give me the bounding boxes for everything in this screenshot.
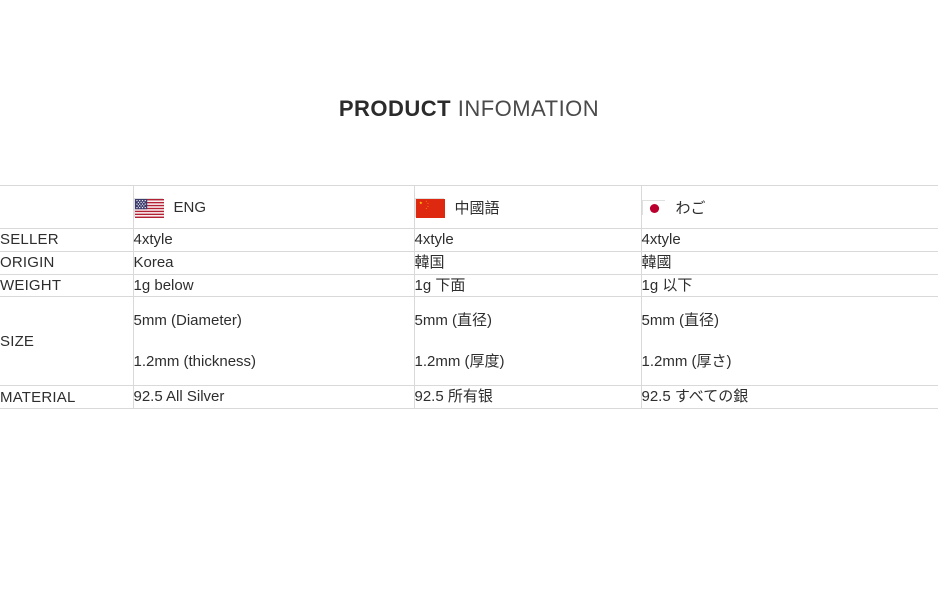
cell-text: 1g 下面 — [415, 275, 641, 297]
cell-text: 1g below — [134, 275, 414, 297]
table-row: MATERIAL 92.5 All Silver 92.5 所有银 92.5 す… — [0, 386, 938, 409]
cell-text: 92.5 All Silver — [134, 386, 414, 408]
header-cell-blank — [0, 186, 133, 229]
page-title: PRODUCT INFOMATION — [0, 96, 938, 122]
product-information-page: PRODUCT INFOMATION — [0, 0, 938, 610]
cn-flag-icon — [415, 198, 444, 217]
cell-weight-eng: 1g below — [133, 274, 414, 297]
language-label-eng: ENG — [174, 199, 207, 216]
row-label-seller: SELLER — [0, 229, 133, 252]
cell-text: 5mm (Diameter) — [134, 310, 414, 332]
row-label-origin: ORIGIN — [0, 251, 133, 274]
cell-seller-jpn: 4xtyle — [641, 229, 938, 252]
cell-text: 韓國 — [642, 252, 938, 274]
cell-text: 5mm (直径) — [642, 310, 938, 332]
row-label-material: MATERIAL — [0, 386, 133, 409]
cell-text: 4xtyle — [642, 229, 938, 251]
cell-size-jpn: 5mm (直径) 1.2mm (厚さ) — [641, 297, 938, 386]
cell-weight-chn: 1g 下面 — [414, 274, 641, 297]
jp-flag-icon — [642, 200, 665, 215]
cell-text: Korea — [134, 252, 414, 274]
table-row: SELLER 4xtyle 4xtyle 4xtyle — [0, 229, 938, 252]
cell-text: 韓国 — [415, 252, 641, 274]
table-header-row: ENG — [0, 186, 938, 229]
header-cell-eng: ENG — [133, 186, 414, 229]
cell-material-jpn: 92.5 すべての銀 — [641, 386, 938, 409]
page-title-secondary: INFOMATION — [451, 96, 599, 121]
cell-weight-jpn: 1g 以下 — [641, 274, 938, 297]
page-title-primary: PRODUCT — [339, 96, 451, 121]
language-label-chn: 中國語 — [455, 197, 500, 218]
language-label-jpn: わご — [676, 197, 706, 218]
header-cell-jpn: わご — [641, 186, 938, 229]
cell-origin-chn: 韓国 — [414, 251, 641, 274]
table-row: SIZE 5mm (Diameter) 1.2mm (thickness) 5m… — [0, 297, 938, 386]
cell-text: 5mm (直径) — [415, 310, 641, 332]
cell-material-eng: 92.5 All Silver — [133, 386, 414, 409]
cell-text: 1.2mm (厚度) — [415, 351, 641, 373]
cell-text: 4xtyle — [415, 229, 641, 251]
cell-origin-eng: Korea — [133, 251, 414, 274]
cell-text: 92.5 すべての銀 — [642, 386, 938, 408]
cell-origin-jpn: 韓國 — [641, 251, 938, 274]
bottom-whitespace — [0, 480, 938, 610]
us-flag-icon — [134, 198, 163, 217]
cell-material-chn: 92.5 所有银 — [414, 386, 641, 409]
cell-text: 4xtyle — [134, 229, 414, 251]
cell-text: 1.2mm (thickness) — [134, 351, 414, 373]
row-label-size: SIZE — [0, 297, 133, 386]
row-label-weight: WEIGHT — [0, 274, 133, 297]
cell-text: 92.5 所有银 — [415, 386, 641, 408]
table-row: WEIGHT 1g below 1g 下面 1g 以下 — [0, 274, 938, 297]
cell-seller-eng: 4xtyle — [133, 229, 414, 252]
cell-size-chn: 5mm (直径) 1.2mm (厚度) — [414, 297, 641, 386]
cell-size-eng: 5mm (Diameter) 1.2mm (thickness) — [133, 297, 414, 386]
product-information-table: ENG — [0, 185, 938, 409]
cell-text: 1g 以下 — [642, 275, 938, 297]
header-cell-chn: 中國語 — [414, 186, 641, 229]
cell-text: 1.2mm (厚さ) — [642, 351, 938, 373]
cell-seller-chn: 4xtyle — [414, 229, 641, 252]
table-row: ORIGIN Korea 韓国 韓國 — [0, 251, 938, 274]
